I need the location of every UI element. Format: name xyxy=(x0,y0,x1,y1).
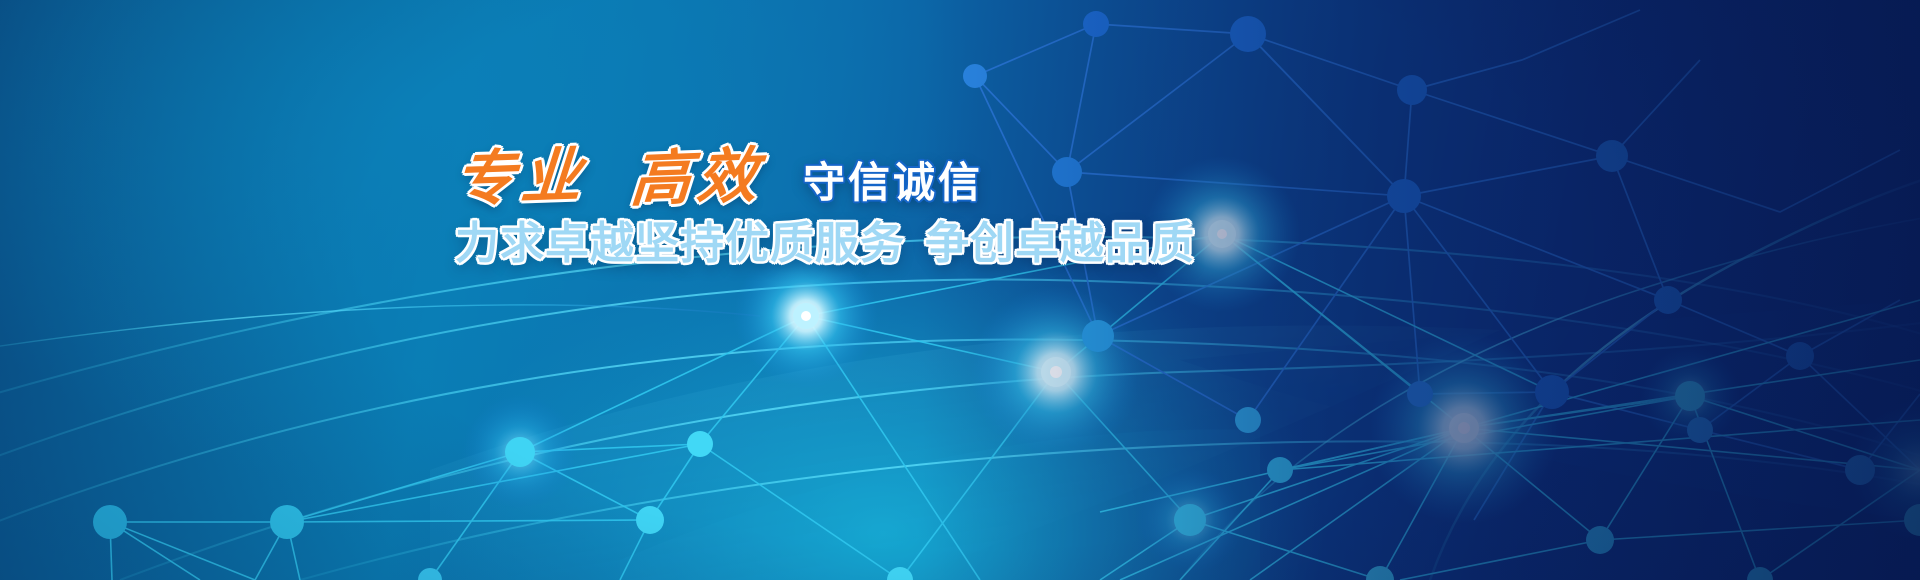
slogan-trustworthy: 守信诚信 xyxy=(803,162,983,204)
slogan-line-2-part-2: 争创卓越品质 xyxy=(925,218,1195,269)
hero-banner: 专业 高效 守信诚信 力求卓越坚持优质服务争创卓越品质 xyxy=(0,0,1920,580)
slogan-block: 专业 高效 守信诚信 力求卓越坚持优质服务争创卓越品质 xyxy=(455,136,1155,266)
vignette-overlay xyxy=(0,0,1920,580)
slogan-highlight-professional: 专业 xyxy=(453,146,590,211)
slogan-line-2: 力求卓越坚持优质服务争创卓越品质 xyxy=(455,222,1155,266)
slogan-highlight-efficient: 高效 xyxy=(629,146,766,211)
slogan-line-1: 专业 高效 守信诚信 xyxy=(455,136,1155,208)
slogan-line-2-part-1: 力求卓越坚持优质服务 xyxy=(455,218,905,269)
